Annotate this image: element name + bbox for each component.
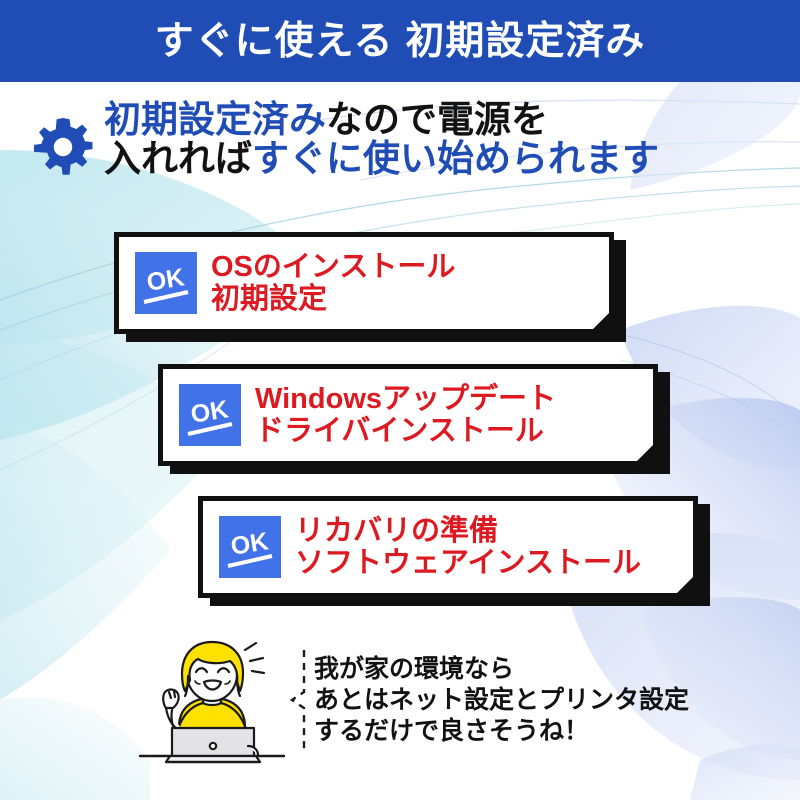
gear-icon [30, 114, 96, 180]
speech-line-2: あとはネット設定とプリンタ設定 [314, 685, 689, 716]
feature-card-2: OK Windowsアップデート ドライバインストール [158, 364, 658, 466]
feature-card-1: OK OSのインストール 初期設定 [114, 232, 614, 334]
card-line-3b: ソフトウェアインストール [295, 547, 641, 579]
card-text-1: OSのインストール 初期設定 [211, 251, 455, 316]
speech-block: 我が家の環境なら あとはネット設定とプリンタ設定 するだけで良さそうね！ [288, 648, 689, 752]
speech-line-3: するだけで良さそうね！ [314, 716, 689, 747]
banner-title: すぐに使える 初期設定済み [155, 22, 646, 61]
ok-badge-icon: OK [179, 384, 241, 446]
card-text-2: Windowsアップデート ドライバインストール [255, 383, 556, 448]
headline-highlight-1: 初期設定済み [104, 99, 326, 140]
headline-line-1: 初期設定済みなので電源を [104, 100, 659, 139]
headline-block: 初期設定済みなので電源を 入れればすぐに使い始められます [30, 100, 775, 180]
card-line-1b: 初期設定 [211, 283, 455, 315]
card-fold-1 [588, 308, 614, 334]
card-fold-3 [672, 572, 698, 598]
ok-badge-icon: OK [135, 252, 197, 314]
woman-at-laptop-icon [132, 634, 292, 794]
headline-rest-1: なので電源を [326, 99, 548, 140]
header-banner: すぐに使える 初期設定済み [0, 0, 800, 82]
speech-bracket-icon [288, 648, 310, 752]
card-fold-2 [632, 440, 658, 466]
headline-line-2: 入れればすぐに使い始められます [104, 139, 659, 178]
ok-badge-icon: OK [219, 516, 281, 578]
card-line-3a: リカバリの準備 [295, 515, 641, 547]
headline-highlight-2: すぐに使い始められます [252, 138, 659, 179]
card-text-3: リカバリの準備 ソフトウェアインストール [295, 515, 641, 580]
card-line-2b: ドライバインストール [255, 415, 556, 447]
card-line-1a: OSのインストール [211, 251, 455, 283]
speech-text: 我が家の環境なら あとはネット設定とプリンタ設定 するだけで良さそうね！ [310, 654, 689, 747]
feature-card-3: OK リカバリの準備 ソフトウェアインストール [198, 496, 698, 598]
headline-lead-2: 入れれば [104, 138, 252, 179]
speech-line-1: 我が家の環境なら [314, 654, 689, 685]
headline-text: 初期設定済みなので電源を 入れればすぐに使い始められます [104, 100, 659, 178]
card-line-2a: Windowsアップデート [255, 383, 556, 415]
promo-graphic: すぐに使える 初期設定済み 初期設定済みなので電源を 入れればすぐに使い始められ… [0, 0, 800, 800]
